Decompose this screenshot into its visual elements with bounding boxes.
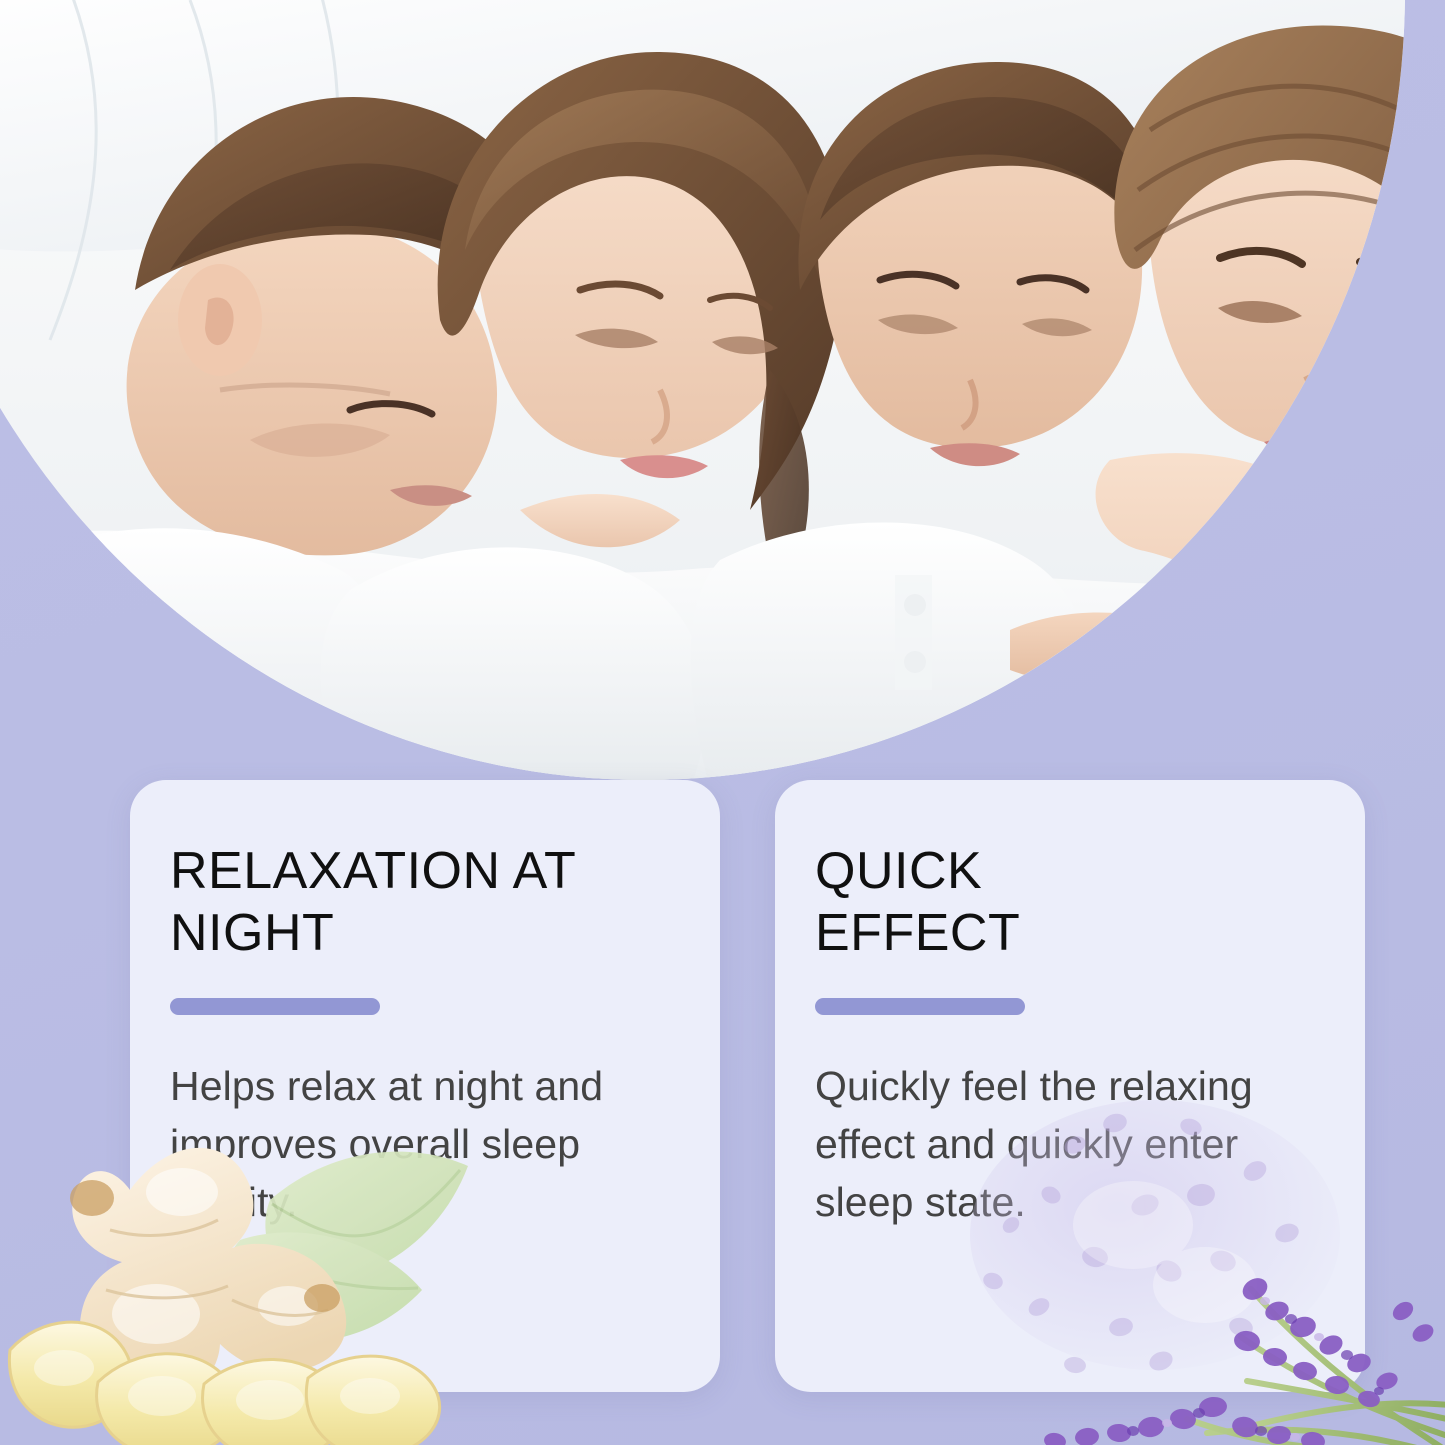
accent-bar [815, 998, 1025, 1015]
feature-card-quick-effect[interactable]: QUICK EFFECT Quickly feel the relaxing e… [775, 780, 1365, 1392]
accent-bar [170, 998, 380, 1015]
card-title: QUICK EFFECT [815, 840, 1319, 964]
product-feature-banner: RELAXATION AT NIGHT Helps relax at night… [0, 0, 1445, 1445]
feature-card-relaxation-at-night[interactable]: RELAXATION AT NIGHT Helps relax at night… [130, 780, 720, 1392]
card-body-text: Quickly feel the relaxing effect and qui… [815, 1057, 1319, 1231]
card-body-text: Helps relax at night and improves overal… [170, 1057, 674, 1231]
feature-card-list: RELAXATION AT NIGHT Helps relax at night… [130, 780, 1365, 1392]
card-title: RELAXATION AT NIGHT [170, 840, 674, 964]
